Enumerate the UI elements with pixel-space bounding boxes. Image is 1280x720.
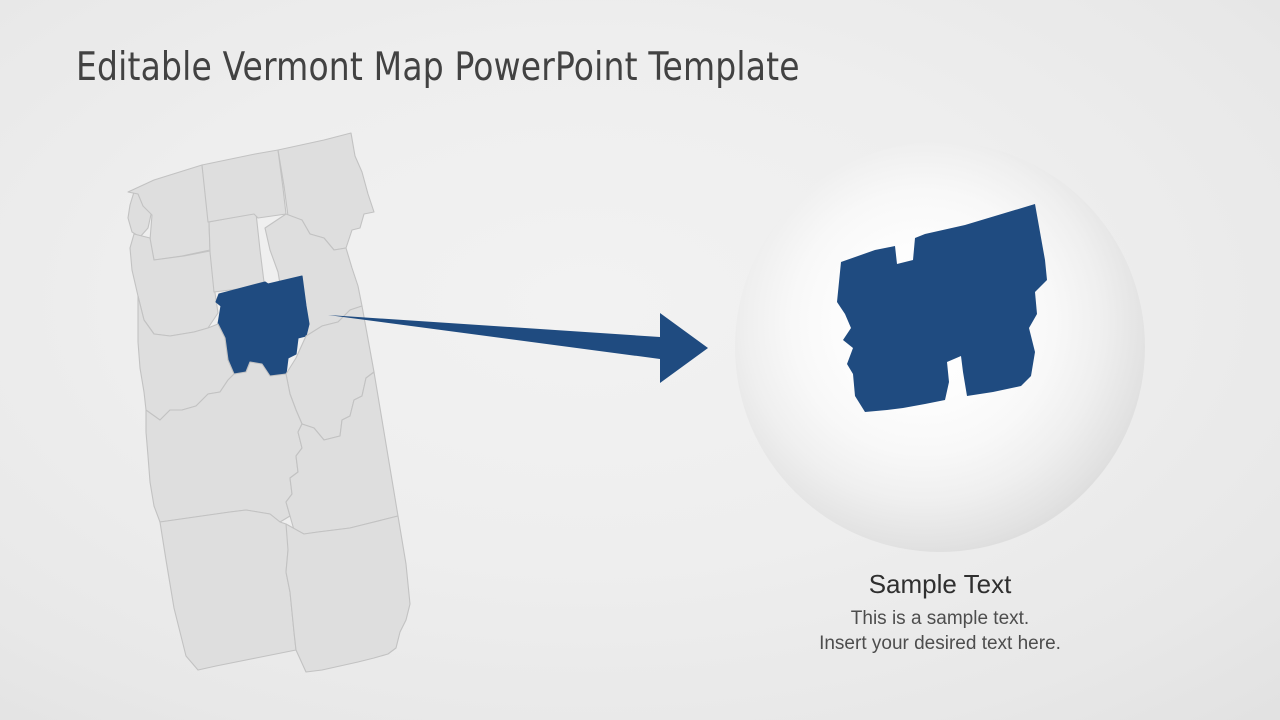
- page-title: Editable Vermont Map PowerPoint Template: [76, 44, 800, 92]
- county-bennington: [160, 510, 296, 670]
- county-washington-magnified: [837, 204, 1047, 412]
- caption-body: This is a sample text. Insert your desir…: [735, 606, 1145, 656]
- caption-line-1: This is a sample text.: [735, 606, 1145, 631]
- callout-arrow: [320, 295, 720, 405]
- sphere-county-shape: [735, 142, 1145, 552]
- caption-line-2: Insert your desired text here.: [735, 631, 1145, 656]
- county-orleans: [202, 150, 286, 222]
- county-lamoille: [209, 213, 264, 292]
- slide-canvas: Editable Vermont Map PowerPoint Template: [0, 0, 1280, 720]
- county-windham: [286, 516, 410, 672]
- arrow-shape: [328, 313, 708, 383]
- caption-block: Sample Text This is a sample text. Inser…: [735, 568, 1145, 656]
- caption-heading: Sample Text: [735, 568, 1145, 600]
- magnified-region-sphere[interactable]: [735, 142, 1145, 552]
